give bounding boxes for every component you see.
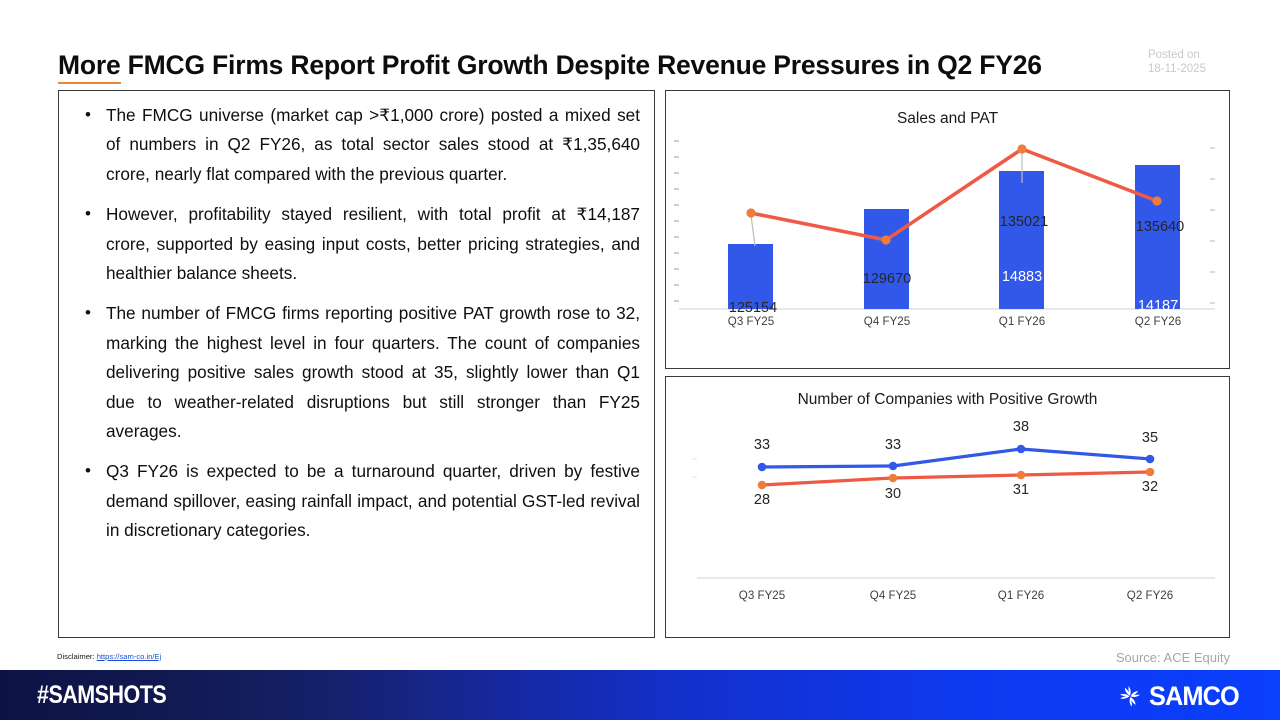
- samshots-hashtag: #SAMSHOTS: [37, 681, 166, 710]
- x-axis-label: Q2 FY26: [1105, 589, 1195, 602]
- disclaimer-link[interactable]: https://sam-co.in/Ej: [97, 652, 162, 661]
- disclaimer-label: Disclaimer:: [57, 652, 95, 661]
- data-label-bar: 13684: [706, 349, 796, 365]
- x-axis-label: Q2 FY26: [1113, 315, 1203, 328]
- page-title-rest: FMCG Firms Report Profit Growth Despite …: [121, 50, 1042, 80]
- data-label-line: 125154: [708, 300, 798, 316]
- source-credit: Source: ACE Equity: [1116, 650, 1230, 665]
- line-markers-pat-growth: [758, 468, 1155, 490]
- line-series-total-profit: [751, 149, 1157, 240]
- samco-logo: SAMCO: [1115, 681, 1245, 712]
- x-axis-label: Q1 FY26: [976, 589, 1066, 602]
- posted-on-label: Posted on: [1148, 48, 1258, 62]
- data-label-pat-growth: 30: [848, 486, 938, 502]
- data-label-pat-growth: 32: [1105, 479, 1195, 495]
- data-label-sales-growth: 33: [848, 437, 938, 453]
- list-item: The FMCG universe (market cap >₹1,000 cr…: [73, 101, 640, 189]
- data-label-pat-growth: 28: [717, 492, 807, 508]
- secondary-axis-ticks: [1210, 148, 1215, 303]
- chart-number-of-companies: Number of Companies with Positive Growth: [665, 376, 1230, 638]
- x-axis-label: Q1 FY26: [977, 315, 1067, 328]
- x-axis-label: Q3 FY25: [717, 589, 807, 602]
- data-label-sales-growth: 35: [1105, 430, 1195, 446]
- footer-bar: [0, 670, 1280, 720]
- bullet-list: The FMCG universe (market cap >₹1,000 cr…: [73, 101, 640, 546]
- data-label-sales-growth: 33: [717, 437, 807, 453]
- value-axis-ticks: [692, 459, 697, 477]
- list-item: Q3 FY26 is expected to be a turnaround q…: [73, 457, 640, 545]
- list-item: The number of FMCG firms reporting posit…: [73, 299, 640, 446]
- page-title: More FMCG Firms Report Profit Growth Des…: [58, 46, 1238, 86]
- primary-axis-ticks: [674, 141, 679, 301]
- line-series-sales-growth: [762, 449, 1150, 467]
- x-axis-label: Q4 FY25: [842, 315, 932, 328]
- x-axis-label: Q4 FY25: [848, 589, 938, 602]
- samco-wordmark: SAMCO: [1149, 681, 1239, 712]
- list-item: However, profitability stayed resilient,…: [73, 200, 640, 288]
- data-label-bar: 14187: [1113, 298, 1203, 314]
- summary-panel: The FMCG universe (market cap >₹1,000 cr…: [58, 90, 655, 638]
- data-label-bar: 13460: [842, 341, 932, 357]
- posted-on-date: 18-11-2025: [1148, 62, 1258, 76]
- data-label-line: 129670: [842, 271, 932, 287]
- line-series-pat-growth: [762, 472, 1150, 485]
- x-axis-label: Q3 FY25: [706, 315, 796, 328]
- page-title-first-word: More: [58, 50, 121, 84]
- bar-series-total-sales: [728, 165, 1180, 309]
- disclaimer: Disclaimer: https://sam-co.in/Ej: [57, 652, 161, 661]
- slide-canvas: More FMCG Firms Report Profit Growth Des…: [0, 0, 1280, 720]
- samco-pinwheel-icon: [1115, 683, 1145, 710]
- data-label-line: 135640: [1115, 219, 1205, 235]
- data-label-bar: 14883: [977, 269, 1067, 285]
- data-label-sales-growth: 38: [976, 419, 1066, 435]
- posted-on-stamp: Posted on 18-11-2025: [1148, 48, 1258, 76]
- chart-sales-and-pat: Sales and PAT: [665, 90, 1230, 369]
- data-label-line: 135021: [979, 214, 1069, 230]
- data-label-pat-growth: 31: [976, 482, 1066, 498]
